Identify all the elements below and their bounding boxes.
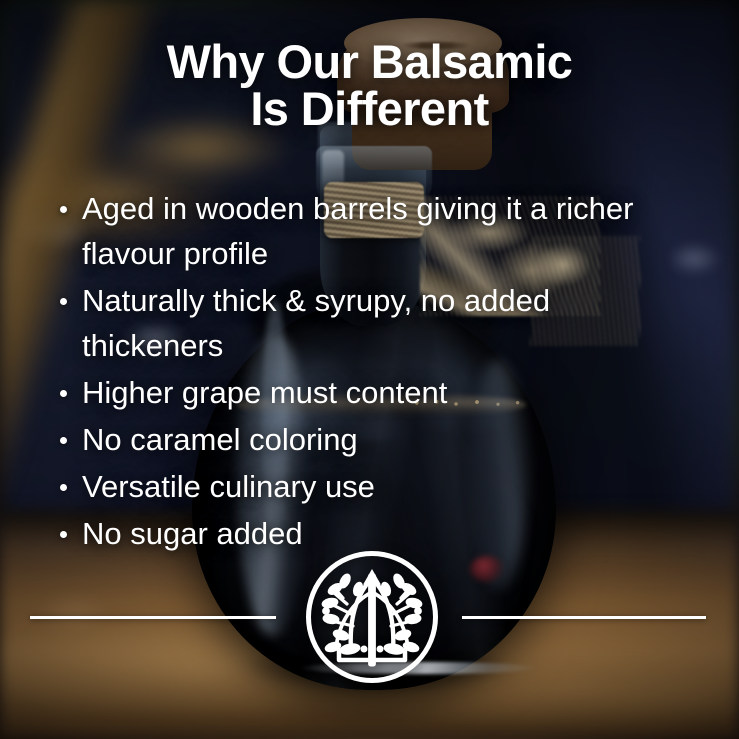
list-item: Naturally thick & syrupy, no added thick… bbox=[56, 278, 676, 368]
title-line-2: Is Different bbox=[0, 85, 739, 132]
poster-footer bbox=[0, 548, 739, 688]
title-line-1: Why Our Balsamic bbox=[0, 38, 739, 85]
benefits-list: Aged in wooden barrels giving it a riche… bbox=[56, 186, 676, 558]
poster-content: Why Our Balsamic Is Different Aged in wo… bbox=[0, 0, 739, 739]
list-item: Versatile culinary use bbox=[56, 464, 676, 509]
poster-title: Why Our Balsamic Is Different bbox=[0, 38, 739, 132]
divider-line-left bbox=[30, 616, 276, 619]
poster-canvas: Why Our Balsamic Is Different Aged in wo… bbox=[0, 0, 739, 739]
list-item: No caramel coloring bbox=[56, 417, 676, 462]
list-item: Higher grape must content bbox=[56, 370, 676, 415]
olive-tree-emblem-icon bbox=[303, 548, 441, 686]
divider-line-right bbox=[462, 616, 706, 619]
list-item: Aged in wooden barrels giving it a riche… bbox=[56, 186, 676, 276]
